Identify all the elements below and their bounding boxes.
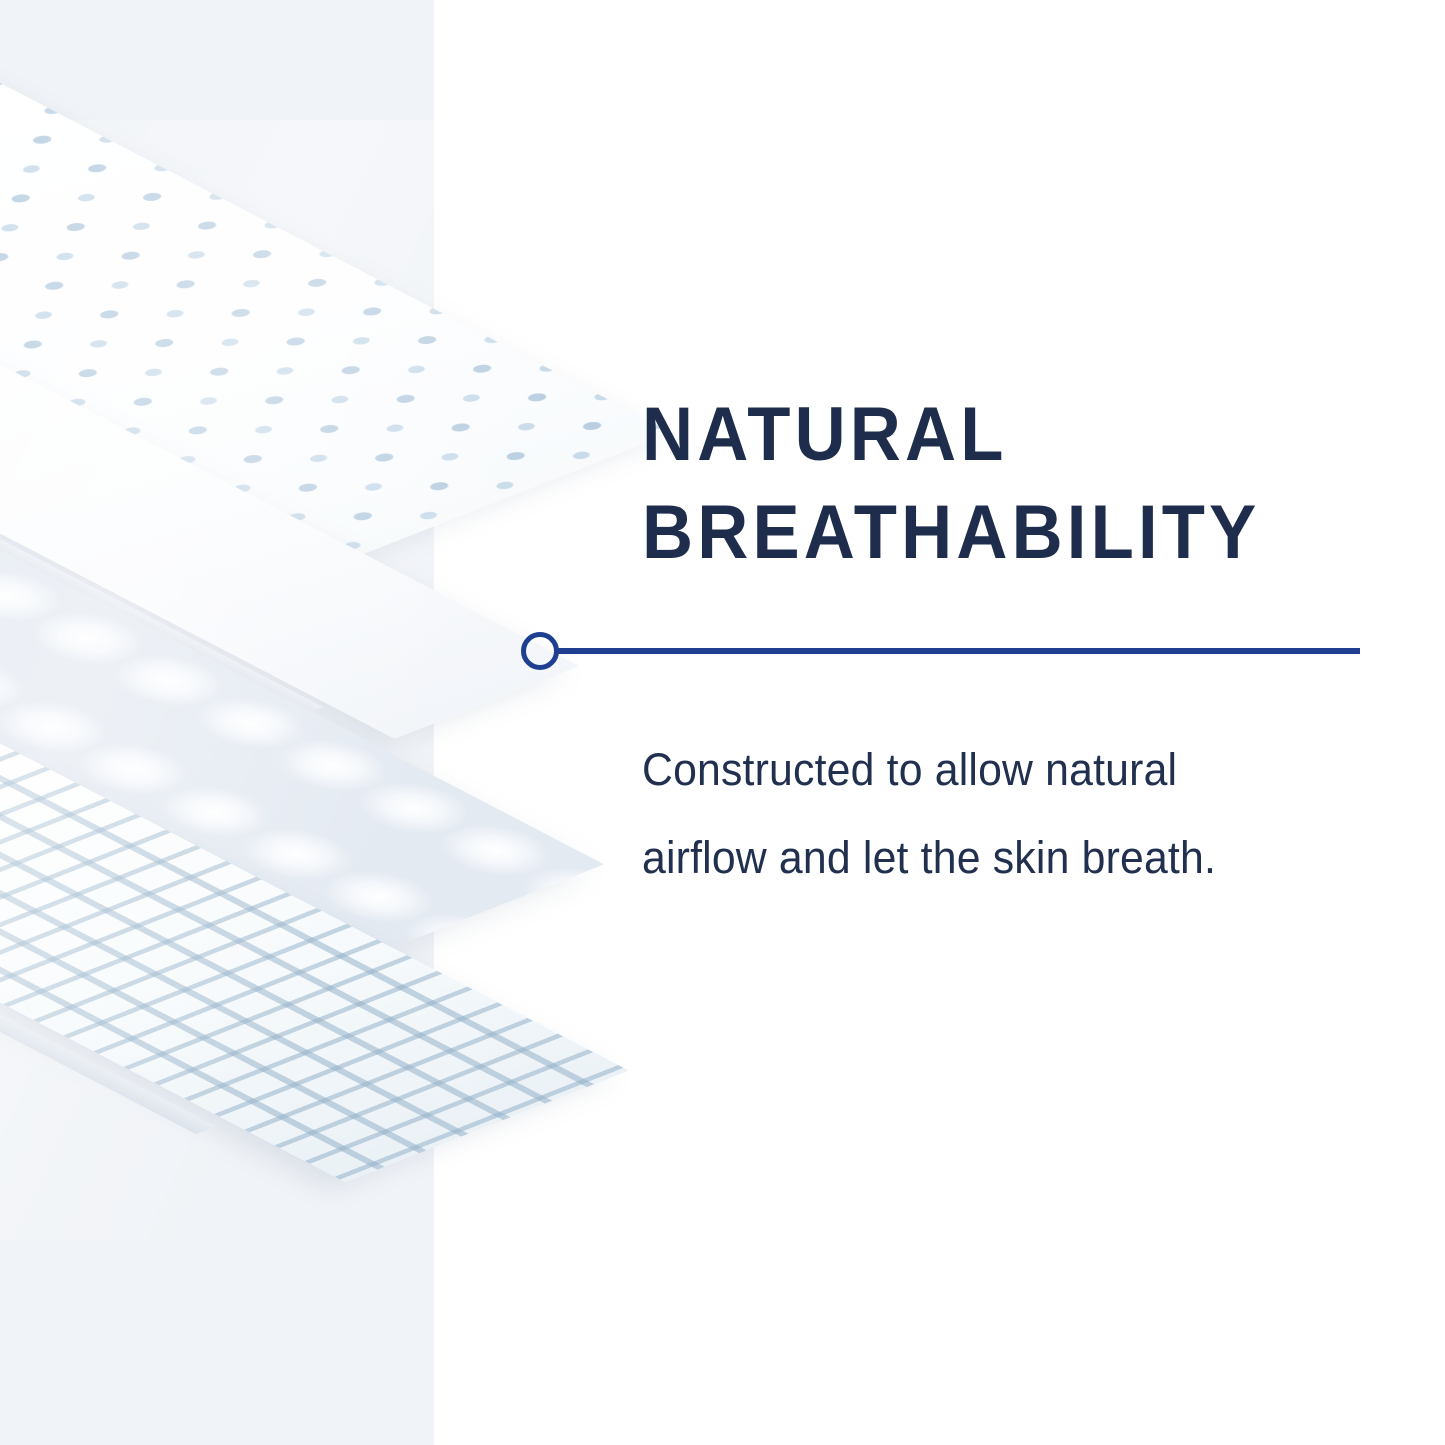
page-title: NATURAL BREATHABILITY bbox=[642, 386, 1330, 582]
text-column: NATURAL BREATHABILITY Constructed to all… bbox=[640, 0, 1400, 1445]
layer-square-mesh-base bbox=[0, 836, 530, 1066]
divider-rule bbox=[557, 648, 1360, 654]
page-title-line-1: NATURAL bbox=[642, 386, 1330, 484]
infographic-canvas: NATURAL BREATHABILITY Constructed to all… bbox=[0, 0, 1445, 1445]
body-description: Constructed to allow natural airflow and… bbox=[642, 726, 1307, 902]
divider bbox=[521, 632, 1381, 670]
layer-solid-foam-slab bbox=[0, 452, 530, 602]
exploded-mattress-layers-illustration bbox=[0, 120, 540, 1240]
page-title-line-2: BREATHABILITY bbox=[642, 484, 1330, 582]
circle-outline-icon bbox=[521, 632, 559, 670]
